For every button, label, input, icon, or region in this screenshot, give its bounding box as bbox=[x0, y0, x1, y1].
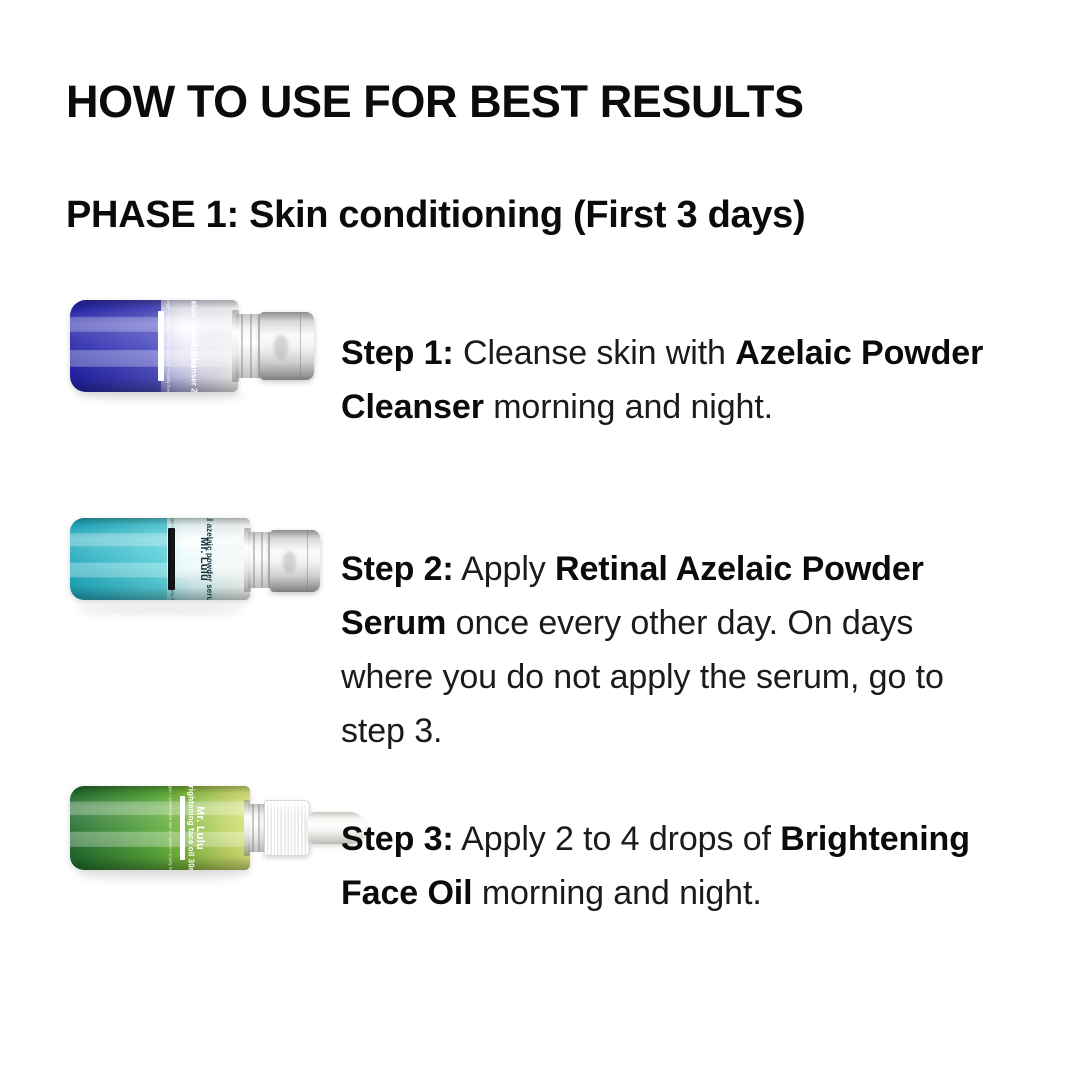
step-1-text-part1: Cleanse skin with bbox=[454, 334, 736, 372]
bottle-cap bbox=[270, 530, 320, 592]
bottle-cap bbox=[260, 312, 314, 380]
product-image-brightening-face-oil: vegan + preservative free 20 natural + c… bbox=[66, 778, 316, 888]
instruction-card: HOW TO USE FOR BEST RESULTS PHASE 1: Ski… bbox=[0, 0, 1080, 1080]
product-image-retinal-azelaic-powder-serum: vegan + preservative free 20 natural + c… bbox=[66, 508, 316, 618]
step-2-text-part1: Apply bbox=[454, 550, 555, 588]
step-2-text: Step 2: Apply Retinal Azelaic Powder Ser… bbox=[341, 542, 996, 758]
step-1-text: Step 1: Cleanse skin with Azelaic Powder… bbox=[341, 326, 996, 434]
bottle-body: vegan + preservative free 20 natural + c… bbox=[70, 518, 250, 600]
step-1-text-part2: morning and night. bbox=[484, 388, 773, 426]
step-3-label: Step 3: bbox=[341, 820, 454, 858]
bottle-body: vegan + preservative free 20 natural + c… bbox=[70, 786, 250, 870]
bottle-neck bbox=[236, 314, 263, 378]
step-2-label: Step 2: bbox=[341, 550, 454, 588]
phase-subtitle: PHASE 1: Skin conditioning (First 3 days… bbox=[66, 195, 805, 237]
dropper-collar bbox=[264, 800, 310, 856]
page-title: HOW TO USE FOR BEST RESULTS bbox=[66, 78, 804, 125]
step-3-text-part2: morning and night. bbox=[472, 874, 761, 912]
step-1-label: Step 1: bbox=[341, 334, 454, 372]
product-image-azelaic-powder-cleanser: vegan + preservative free 20 natural + c… bbox=[66, 292, 316, 402]
bottle-body: vegan + preservative free 20 natural + c… bbox=[70, 300, 238, 392]
step-3-text: Step 3: Apply 2 to 4 drops of Brightenin… bbox=[341, 812, 996, 920]
step-3-text-part1: Apply 2 to 4 drops of bbox=[454, 820, 781, 858]
